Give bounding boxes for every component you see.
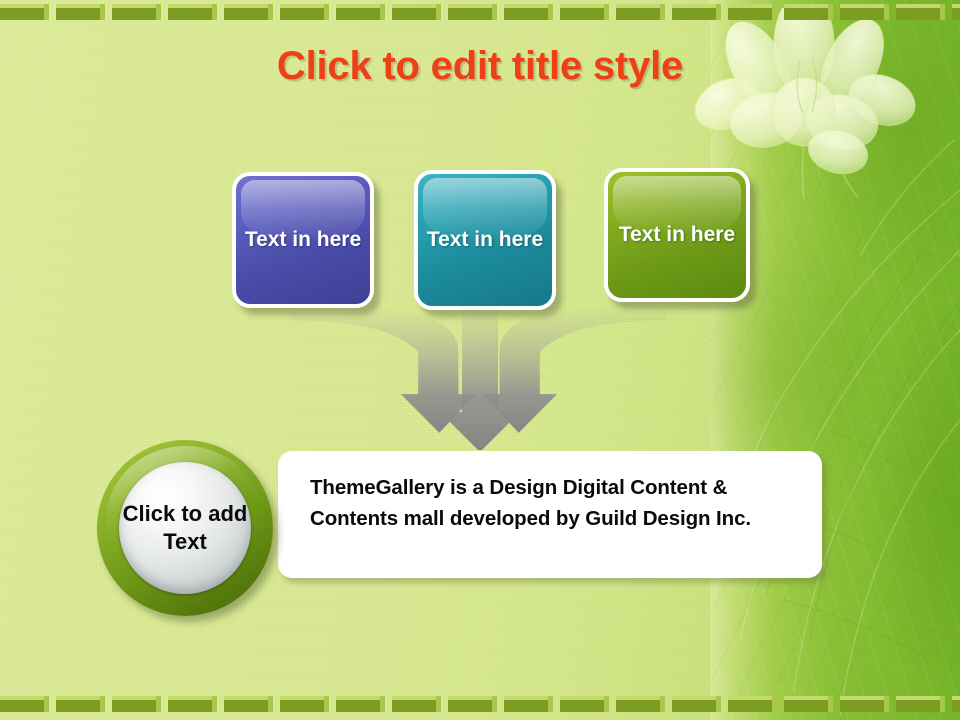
card-green-label: Text in here (619, 221, 735, 249)
presentation-slide: Click to edit title style Text in here T… (0, 0, 960, 720)
bottom-border-highlight (0, 696, 960, 700)
slide-title[interactable]: Click to edit title style (0, 44, 960, 89)
card-teal-label: Text in here (427, 226, 543, 254)
circle-inner-face: Click to add Text (119, 462, 251, 594)
card-purple-label: Text in here (245, 226, 361, 254)
caption-text: ThemeGallery is a Design Digital Content… (310, 473, 796, 535)
caption-box[interactable]: ThemeGallery is a Design Digital Content… (278, 451, 822, 578)
top-border-highlight (0, 4, 960, 8)
click-to-add-text-circle[interactable]: Click to add Text (97, 440, 273, 616)
converging-down-arrows-icon (280, 300, 680, 450)
circle-label: Click to add Text (119, 500, 251, 556)
card-green[interactable]: Text in here (604, 168, 750, 302)
card-teal[interactable]: Text in here (414, 170, 556, 310)
card-purple[interactable]: Text in here (232, 172, 374, 308)
